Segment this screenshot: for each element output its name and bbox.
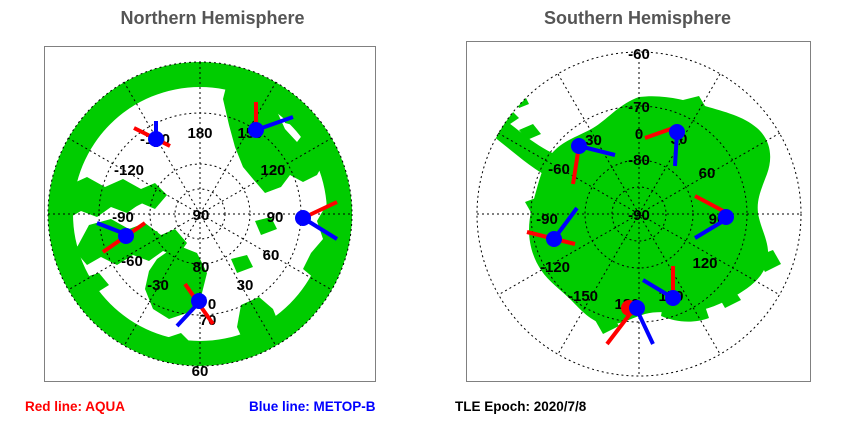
lon-label-neg120: -120: [114, 162, 144, 179]
lon-label-neg90: -90: [112, 209, 134, 226]
lon-label-60-s: 60: [699, 165, 716, 182]
lat-label-90: 90: [193, 207, 210, 224]
legend-bar: Red line: AQUA Blue line: METOP-B TLE Ep…: [0, 396, 850, 425]
lon-label-90: 90: [267, 209, 284, 226]
lat-label-60: 60: [192, 363, 209, 380]
lon-label-neg150-s: -150: [568, 288, 598, 305]
panel-southern-hemisphere: Southern Hemisphere: [425, 0, 850, 400]
lon-label-0: 0: [208, 296, 216, 313]
page-title-northern: Northern Hemisphere: [0, 8, 425, 29]
lon-label-180: 180: [187, 125, 212, 142]
legend-tle-epoch: TLE Epoch: 2020/7/8: [455, 399, 586, 414]
legend-aqua: Red line: AQUA: [25, 399, 125, 414]
figure-canvas: Northern Hemisphere: [0, 0, 850, 425]
lat-label-neg60-s: -60: [628, 46, 650, 63]
lon-label-30: 30: [237, 277, 254, 294]
panel-northern-hemisphere: Northern Hemisphere: [0, 0, 425, 400]
lon-label-neg90-s: -90: [536, 211, 558, 228]
plot-surface-northern: 180 -150 150 -120 120 -90 90 -60 60 -30 …: [45, 47, 375, 381]
lon-label-120: 120: [260, 162, 285, 179]
lon-label-neg60: -60: [121, 253, 143, 270]
lon-label-120-s: 120: [692, 255, 717, 272]
lat-label-neg90-s: -90: [628, 207, 650, 224]
lon-label-0-s: 0: [635, 126, 643, 143]
lat-label-neg70-s: -70: [628, 99, 650, 116]
lon-label-neg60-s: -60: [548, 161, 570, 178]
plot-frame-southern: 0 30 60 90 120 150 180 -150 -120 -90 -60…: [466, 41, 811, 382]
lat-label-neg80-s: -80: [628, 152, 650, 169]
polar-map-southern: 0 30 60 90 120 150 180 -150 -120 -90 -60…: [467, 42, 810, 381]
plot-surface-southern: 0 30 60 90 120 150 180 -150 -120 -90 -60…: [467, 42, 810, 381]
lat-label-80: 80: [193, 259, 210, 276]
page-title-southern: Southern Hemisphere: [425, 8, 850, 29]
polar-map-northern: 180 -150 150 -120 120 -90 90 -60 60 -30 …: [45, 47, 375, 381]
lon-label-neg120-s: -120: [540, 259, 570, 276]
plot-frame-northern: 180 -150 150 -120 120 -90 90 -60 60 -30 …: [44, 46, 376, 382]
lon-label-60: 60: [263, 247, 280, 264]
lon-label-neg30: -30: [147, 277, 169, 294]
legend-metop-b: Blue line: METOP-B: [249, 399, 376, 414]
